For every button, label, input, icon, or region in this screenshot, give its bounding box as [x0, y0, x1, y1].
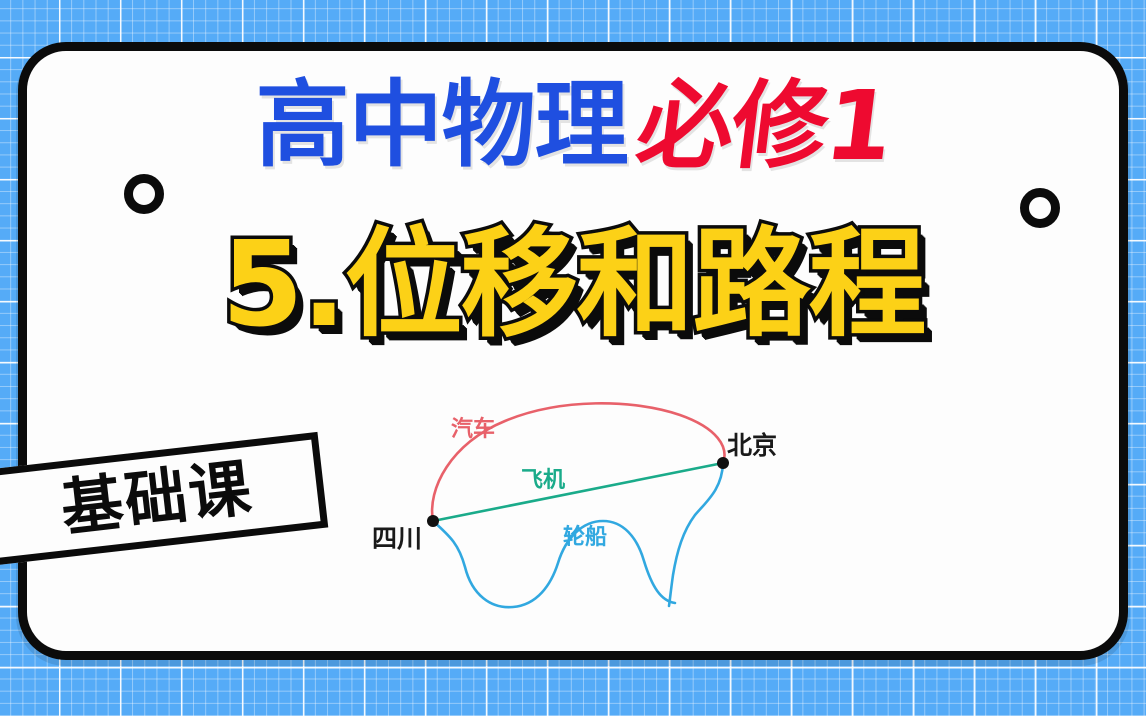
node-label-beijing: 北京 [727, 433, 777, 458]
ship-route-path [433, 521, 675, 607]
route-label-plane: 飞机 [521, 470, 565, 492]
node-sichuan-dot [427, 515, 439, 527]
route-label-car: 汽车 [451, 419, 495, 441]
displacement-vs-distance-diagram: 四川 北京 汽车 飞机 轮船 [355, 385, 805, 620]
poster-canvas: 高中物理必修1 5.位移和路程 基础课 四川 北京 汽车 飞机 轮船 [0, 0, 1146, 716]
ring-hole-left-icon [124, 174, 164, 214]
plane-route-path [433, 463, 723, 521]
page-title: 5.位移和路程 [0, 225, 1146, 343]
route-label-ship: 轮船 [563, 527, 607, 549]
headline-volume: 必修1 [632, 78, 897, 174]
diagram-svg [355, 385, 805, 620]
ship-route-path-right [669, 463, 723, 606]
ring-hole-right-icon [1020, 188, 1060, 228]
node-label-sichuan: 四川 [372, 526, 422, 551]
headline: 高中物理必修1 [0, 78, 1146, 174]
course-level-badge-label: 基础课 [32, 457, 256, 543]
headline-subject: 高中物理 [256, 71, 628, 180]
